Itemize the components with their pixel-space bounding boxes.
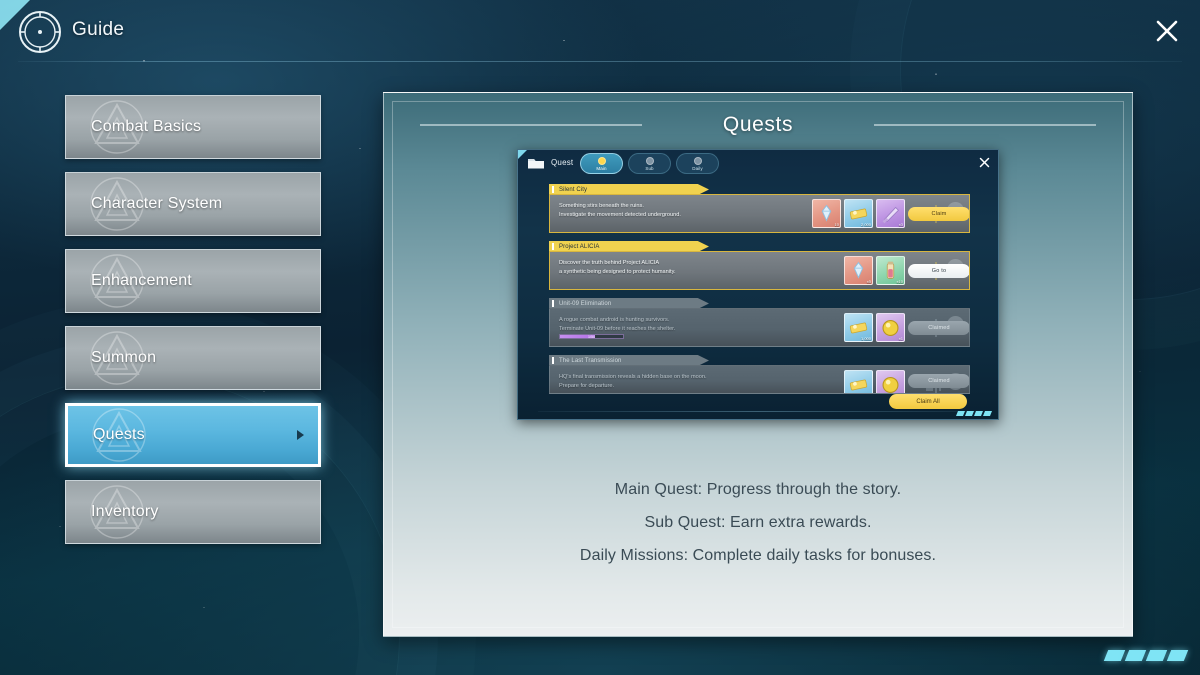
reward-qty: x1 [899, 336, 903, 341]
quest-body: Something stirs beneath the ruins. Inves… [549, 194, 970, 233]
top-bar: Guide [0, 0, 1200, 62]
description-line: Daily Missions: Complete daily tasks for… [384, 547, 1132, 565]
goto-button[interactable]: Go to [908, 264, 970, 278]
quest-rewards: 10 2,000 x3 [812, 199, 905, 228]
sidebar-item-label: Combat Basics [91, 118, 201, 136]
banner-tick [552, 357, 554, 364]
claim-all-button[interactable]: Claim All [889, 394, 967, 409]
quest-modal-title: Quest [551, 158, 573, 167]
title-rule-right [874, 124, 1096, 126]
reward-ticket-icon[interactable]: 1,000 [844, 313, 873, 342]
tab-sub-icon [646, 157, 654, 165]
reward-orb-icon[interactable]: x1 [876, 370, 905, 394]
reward-qty: x3 [899, 222, 903, 227]
content-panel: Quests Quest Main Sub [383, 92, 1133, 637]
sidebar-item-label: Enhancement [91, 272, 192, 290]
quest-rewards: x5 x10 [844, 256, 905, 285]
compass-icon [18, 10, 62, 54]
reward-orb-icon[interactable]: x1 [876, 313, 905, 342]
quest-description: HQ's final transmission reveals a hidden… [559, 373, 707, 391]
reward-qty: 10 [835, 222, 839, 227]
reward-qty: x10 [897, 279, 903, 284]
quest-description: A rogue combat android is hunting surviv… [559, 316, 675, 334]
sidebar-item-label: Quests [93, 426, 145, 444]
quest-progress-bar: 1/50 [559, 334, 624, 339]
banner-tick [552, 243, 554, 250]
reward-ticket-icon[interactable]: 2,000 [844, 199, 873, 228]
description-line: Main Quest: Progress through the story. [384, 481, 1132, 499]
reward-potion-icon[interactable]: x10 [876, 256, 905, 285]
quest-name: Unit-09 Elimination [559, 301, 611, 307]
sidebar-item-label: Inventory [91, 503, 159, 521]
quest-name: Project ALICIA [559, 244, 599, 250]
claimed-button: Claimed [908, 321, 970, 335]
quest-description: Discover the truth behind Project ALICIA… [559, 259, 676, 277]
quest-description: Something stirs beneath the ruins. Inves… [559, 202, 681, 220]
chevron-right-icon [297, 430, 304, 440]
sidebar-item-quests[interactable]: Quests [65, 403, 321, 467]
reward-qty: 1,000 [861, 393, 871, 394]
folder-icon [527, 156, 545, 170]
tab-daily[interactable]: Daily [676, 153, 719, 174]
quest-modal-illustration: Quest Main Sub Daily [517, 149, 999, 420]
quest-name: Silent City [559, 187, 587, 193]
header-divider [18, 61, 1182, 62]
quest-body: A rogue combat android is hunting surviv… [549, 308, 970, 347]
reward-qty: 1,000 [861, 336, 871, 341]
quest-description-block: Main Quest: Progress through the story. … [384, 481, 1132, 580]
tab-label: Sub [645, 166, 653, 171]
sidebar-item-character-system[interactable]: Character System [65, 172, 321, 236]
sidebar-item-enhancement[interactable]: Enhancement [65, 249, 321, 313]
tab-label: Main [596, 166, 606, 171]
sidebar-item-summon[interactable]: Summon [65, 326, 321, 390]
banner-tick [552, 300, 554, 307]
sidebar: Combat Basics Character System Enhanceme… [65, 95, 321, 557]
tab-main-icon [598, 157, 606, 165]
reward-gem-icon[interactable]: 10 [812, 199, 841, 228]
quest-rewards: 1,000 x1 [844, 313, 905, 342]
tab-sub[interactable]: Sub [628, 153, 671, 174]
sidebar-item-combat-basics[interactable]: Combat Basics [65, 95, 321, 159]
claim-button[interactable]: Claim [908, 207, 970, 221]
reward-weapon-icon[interactable]: x3 [876, 199, 905, 228]
corner-chevrons-icon [1106, 650, 1186, 661]
reward-qty: x5 [867, 279, 871, 284]
close-icon[interactable] [1148, 12, 1186, 50]
quest-body: HQ's final transmission reveals a hidden… [549, 365, 970, 394]
quest-tabs: Main Sub Daily [580, 153, 719, 174]
tab-main[interactable]: Main [580, 153, 623, 174]
quest-body: Discover the truth behind Project ALICIA… [549, 251, 970, 290]
quest-modal-header: Quest Main Sub Daily [518, 150, 998, 177]
modal-close-icon[interactable] [978, 156, 991, 169]
reward-gem-icon[interactable]: x5 [844, 256, 873, 285]
claimed-button: Claimed [908, 374, 970, 388]
description-line: Sub Quest: Earn extra rewards. [384, 514, 1132, 532]
modal-corner-chevrons-icon [957, 411, 991, 416]
sidebar-item-label: Character System [91, 195, 222, 213]
page-title: Guide [72, 19, 124, 41]
banner-tick [552, 186, 554, 193]
quest-list: Silent City Something stirs beneath the … [518, 178, 998, 419]
tab-label: Daily [692, 166, 703, 171]
reward-qty: 2,000 [861, 222, 871, 227]
quest-rewards: 1,000 x1 [844, 370, 905, 394]
progress-label: 1/50 [560, 335, 623, 338]
modal-bottom-divider [538, 411, 978, 412]
sidebar-item-label: Summon [91, 349, 156, 367]
quest-name: The Last Transmission [559, 358, 621, 364]
sidebar-item-inventory[interactable]: Inventory [65, 480, 321, 544]
tab-daily-icon [694, 157, 702, 165]
reward-ticket-icon[interactable]: 1,000 [844, 370, 873, 394]
